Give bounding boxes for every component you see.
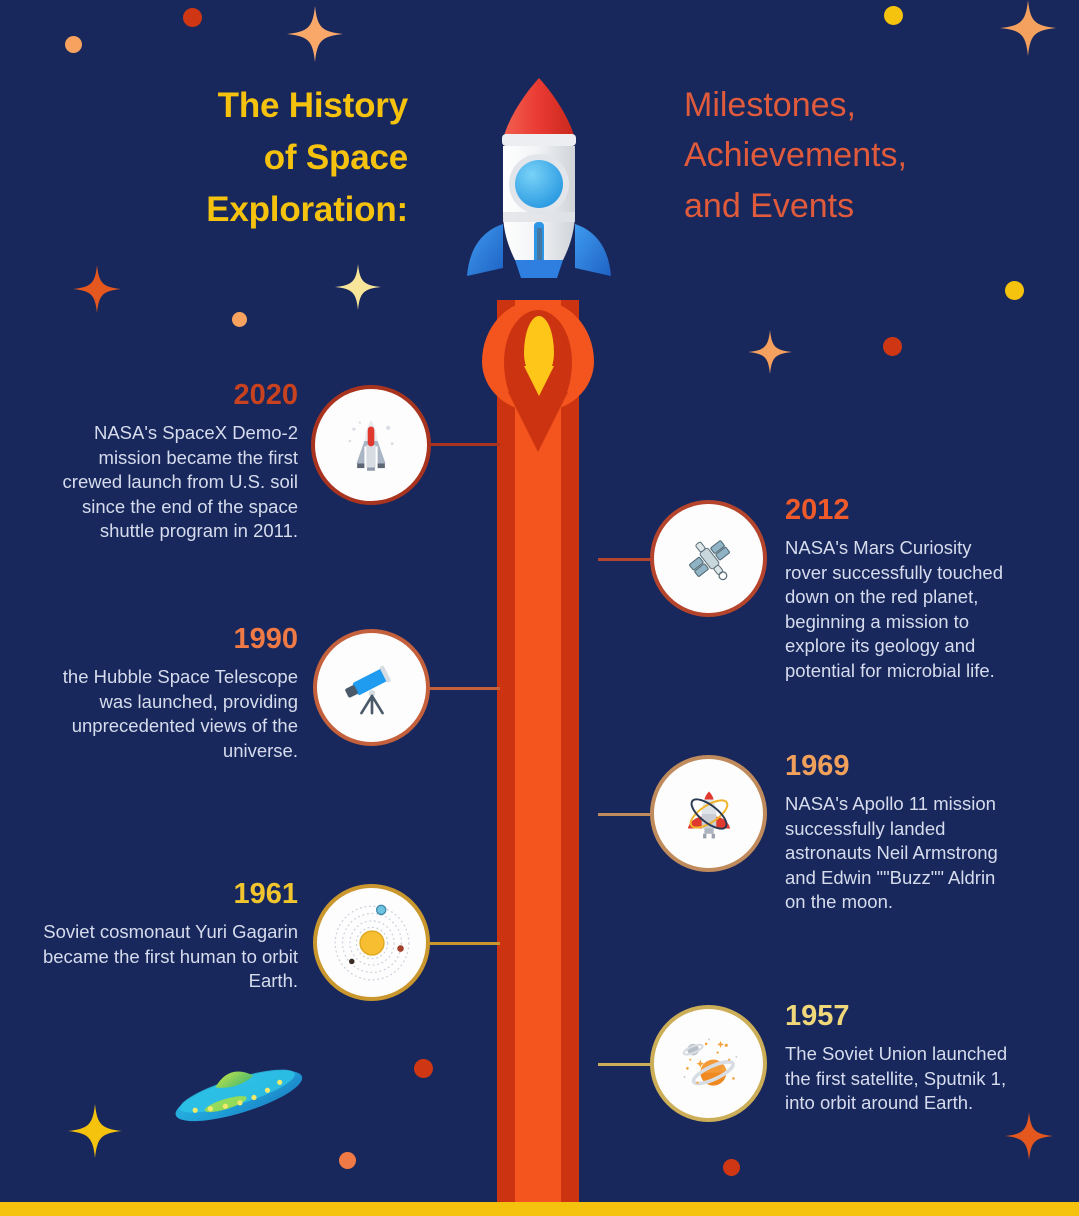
timeline-text-1969: NASA's Apollo 11 mission successfully la… bbox=[785, 792, 1001, 915]
connector-line-1961 bbox=[428, 942, 500, 945]
infographic-canvas: The History of Space Exploration: Milest… bbox=[0, 0, 1079, 1216]
dot-icon bbox=[183, 8, 202, 27]
star-icon bbox=[1005, 1112, 1053, 1160]
star-icon bbox=[1000, 0, 1056, 56]
star-icon bbox=[335, 264, 381, 310]
dot-icon bbox=[1005, 281, 1024, 300]
timeline-marker-1990[interactable] bbox=[313, 629, 430, 746]
bottom-accent-bar bbox=[0, 1202, 1079, 1216]
timeline-year-1961: 1961 bbox=[40, 880, 298, 909]
flame-icon bbox=[482, 300, 594, 440]
timeline-year-2020: 2020 bbox=[40, 381, 298, 410]
star-icon bbox=[68, 1104, 122, 1158]
telescope-icon bbox=[339, 655, 405, 721]
timeline-text-1961: Soviet cosmonaut Yuri Gagarin became the… bbox=[40, 920, 298, 994]
planets-icon bbox=[673, 1028, 745, 1100]
timeline-entry-1969: 1969 NASA's Apollo 11 mission successful… bbox=[785, 752, 1001, 915]
star-icon bbox=[287, 6, 343, 62]
timeline-marker-2020[interactable] bbox=[311, 385, 431, 505]
timeline-entry-2012: 2012 NASA's Mars Curiosity rover success… bbox=[785, 496, 1011, 684]
timeline-marker-1969[interactable] bbox=[650, 755, 767, 872]
page-title-right: Milestones, Achievements, and Events bbox=[684, 80, 1054, 231]
rocket-orbit-icon bbox=[676, 781, 742, 847]
timeline-entry-1990: 1990 the Hubble Space Telescope was laun… bbox=[40, 625, 298, 763]
timeline-entry-2020: 2020 NASA's SpaceX Demo-2 mission became… bbox=[40, 381, 298, 544]
connector-line-1990 bbox=[428, 687, 500, 690]
dot-icon bbox=[65, 36, 82, 53]
dot-icon bbox=[339, 1152, 356, 1169]
solar-system-icon bbox=[326, 897, 418, 989]
timeline-year-1990: 1990 bbox=[40, 625, 298, 654]
timeline-entry-1957: 1957 The Soviet Union launched the first… bbox=[785, 1002, 1011, 1116]
dot-icon bbox=[883, 337, 902, 356]
ufo-icon bbox=[168, 1048, 308, 1134]
dot-icon bbox=[414, 1059, 433, 1078]
dot-icon bbox=[884, 6, 903, 25]
timeline-marker-2012[interactable] bbox=[650, 500, 767, 617]
timeline-text-2012: NASA's Mars Curiosity rover successfully… bbox=[785, 536, 1011, 684]
timeline-entry-1961: 1961 Soviet cosmonaut Yuri Gagarin becam… bbox=[40, 880, 298, 994]
space-shuttle-icon bbox=[338, 412, 404, 478]
rocket-icon bbox=[459, 72, 619, 312]
timeline-year-1969: 1969 bbox=[785, 752, 1001, 781]
dot-icon bbox=[723, 1159, 740, 1176]
timeline-marker-1961[interactable] bbox=[313, 884, 430, 1001]
timeline-year-2012: 2012 bbox=[785, 496, 1011, 525]
timeline-marker-1957[interactable] bbox=[650, 1005, 767, 1122]
star-icon bbox=[748, 330, 792, 374]
connector-line-2020 bbox=[428, 443, 500, 446]
timeline-text-1957: The Soviet Union launched the first sate… bbox=[785, 1042, 1011, 1116]
timeline-text-1990: the Hubble Space Telescope was launched,… bbox=[40, 665, 298, 763]
timeline-year-1957: 1957 bbox=[785, 1002, 1011, 1031]
page-title-left: The History of Space Exploration: bbox=[88, 80, 408, 235]
timeline-text-2020: NASA's SpaceX Demo-2 mission became the … bbox=[40, 421, 298, 544]
star-icon bbox=[73, 265, 121, 313]
dot-icon bbox=[232, 312, 247, 327]
satellite-icon bbox=[677, 527, 741, 591]
